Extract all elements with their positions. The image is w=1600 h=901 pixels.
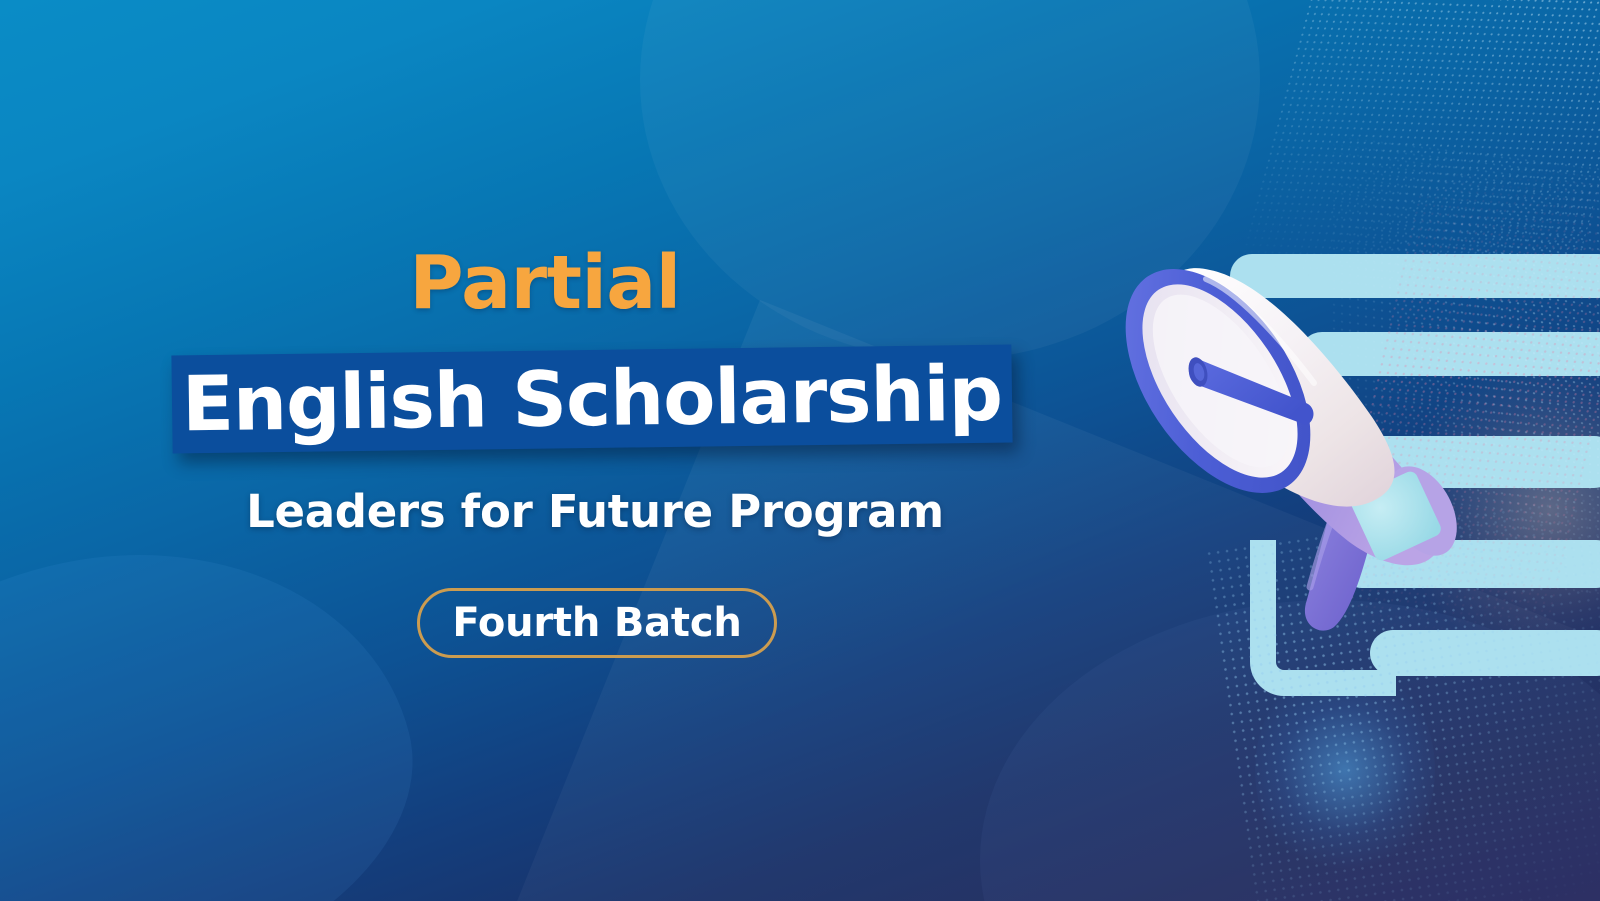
megaphone-icon: [1110, 235, 1540, 655]
promo-banner: Partial English Scholarship Leaders for …: [0, 0, 1600, 901]
kicker-text: Partial: [0, 246, 1090, 320]
background-blob-bottom-left: [0, 491, 453, 901]
batch-badge: Fourth Batch: [417, 588, 777, 658]
headline-text: English Scholarship: [171, 344, 1012, 453]
subtitle-text: Leaders for Future Program: [0, 489, 1190, 534]
batch-badge-label: Fourth Batch: [452, 600, 741, 646]
